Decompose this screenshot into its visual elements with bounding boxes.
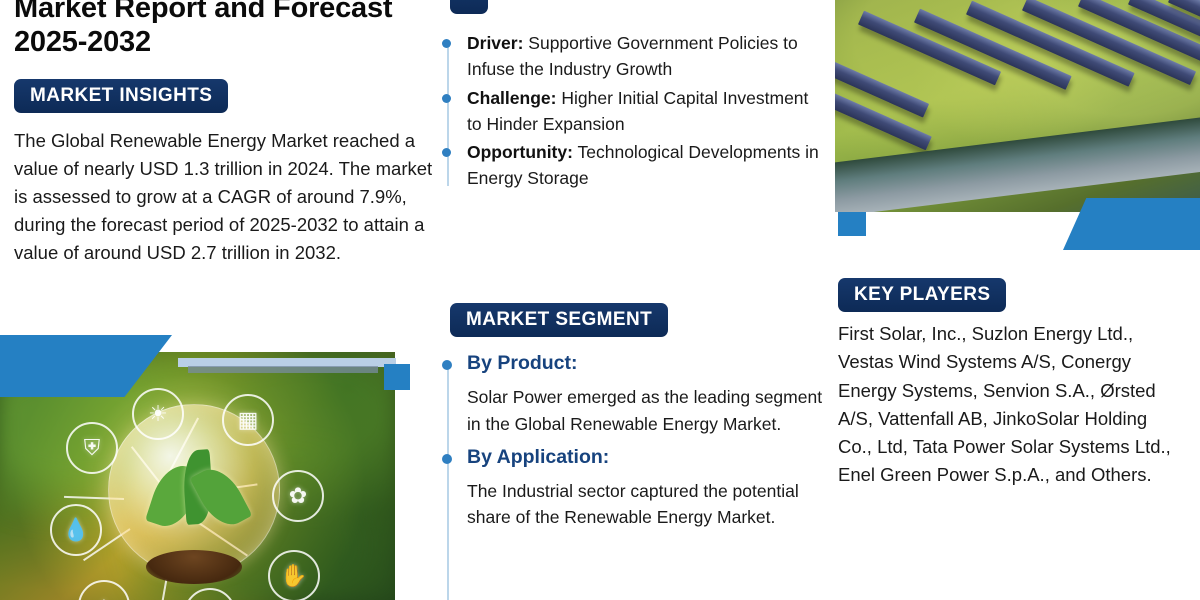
middle-column: Driver: Supportive Government Policies t… — [437, 0, 827, 194]
bullet-spine — [447, 362, 449, 600]
list-item-label: Driver: — [467, 33, 523, 53]
market-insights-badge: MARKET INSIGHTS — [14, 79, 228, 113]
blue-square-accent — [384, 364, 410, 390]
drivers-section-badge — [450, 0, 488, 14]
list-item-label: Opportunity: — [467, 142, 573, 162]
blue-square-accent-right — [838, 212, 866, 236]
solar-panel-icon: ▦ — [222, 394, 274, 446]
bullet-dot-icon — [442, 454, 452, 464]
list-item: Driver: Supportive Government Policies t… — [467, 30, 827, 83]
hand-plant-icon: ✋ — [268, 550, 320, 600]
photo-top-shadow-bar — [188, 366, 378, 373]
market-segment-list: By Product: Solar Power emerged as the l… — [437, 352, 827, 539]
driver-challenge-opportunity-list: Driver: Supportive Government Policies t… — [437, 30, 827, 192]
segment-text: The Industrial sector captured the poten… — [467, 478, 827, 532]
segment-heading: By Product: — [467, 352, 827, 375]
key-players-badge: KEY PLAYERS — [838, 278, 1006, 312]
market-segment-badge: MARKET SEGMENT — [450, 303, 668, 337]
market-segment-badge-wrap: MARKET SEGMENT — [450, 303, 668, 337]
segment-heading: By Application: — [467, 446, 827, 469]
bullet-spine — [447, 40, 449, 186]
bullet-dot-icon — [442, 360, 452, 370]
sun-icon: ☀ — [132, 388, 184, 440]
key-players-body: First Solar, Inc., Suzlon Energy Ltd., V… — [838, 320, 1184, 490]
sprout-plant — [150, 450, 242, 558]
oil-rig-icon: ⛨ — [66, 422, 118, 474]
soil-mound — [146, 550, 242, 584]
market-insights-badge-wrap: MARKET INSIGHTS — [14, 79, 444, 113]
page-title: Market Report and Forecast 2025-2032 — [14, 0, 444, 60]
list-item: By Product: Solar Power emerged as the l… — [467, 352, 827, 438]
water-drop-icon: 💧 — [50, 504, 102, 556]
bullet-dot-icon — [442, 148, 451, 157]
bullet-dot-icon — [442, 94, 451, 103]
market-insights-body: The Global Renewable Energy Market reach… — [14, 127, 444, 268]
bullet-dot-icon — [442, 39, 451, 48]
infographic-page: Market Report and Forecast 2025-2032 MAR… — [0, 0, 1200, 600]
list-item-label: Challenge: — [467, 88, 556, 108]
list-item: Challenge: Higher Initial Capital Invest… — [467, 85, 827, 138]
list-item: By Application: The Industrial sector ca… — [467, 446, 827, 532]
list-item: Opportunity: Technological Developments … — [467, 139, 827, 192]
segment-text: Solar Power emerged as the leading segme… — [467, 384, 827, 438]
solar-farm-photo — [835, 0, 1200, 212]
left-column: Market Report and Forecast 2025-2032 MAR… — [14, 0, 444, 267]
blue-trapezoid-accent — [1063, 198, 1200, 250]
key-players-badge-wrap: KEY PLAYERS — [838, 278, 1006, 312]
leaf-icon: ✿ — [272, 470, 324, 522]
